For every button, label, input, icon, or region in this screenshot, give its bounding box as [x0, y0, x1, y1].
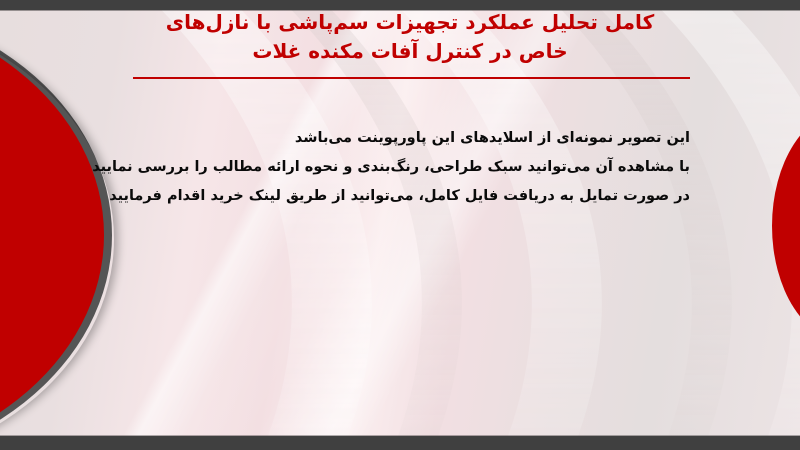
- slide-content-area: [0, 10, 800, 436]
- slide-plate: [0, 10, 800, 436]
- slide-title-line-1: کامل تحلیل عملکرد تجهیزات سم‌پاشی با ناز…: [120, 8, 700, 37]
- bottom-frame-bar: [0, 436, 800, 450]
- slide-title-line-2: خاص در کنترل آفات مکنده غلات: [120, 37, 700, 66]
- bottom-frame-edge: [0, 435, 800, 436]
- presentation-slide: کامل تحلیل عملکرد تجهیزات سم‌پاشی با ناز…: [0, 0, 800, 450]
- body-line-2: با مشاهده آن می‌توانید سبک طراحی، رنگ‌بن…: [130, 153, 690, 182]
- slide-title: کامل تحلیل عملکرد تجهیزات سم‌پاشی با ناز…: [120, 8, 700, 66]
- body-line-1: این تصویر نمونه‌ای از اسلایدهای این پاور…: [130, 124, 690, 153]
- body-line-3: در صورت تمایل به دریافت فایل کامل، می‌تو…: [130, 182, 690, 211]
- slide-body-text: این تصویر نمونه‌ای از اسلایدهای این پاور…: [130, 124, 690, 211]
- title-underline-rule: [133, 77, 690, 79]
- background-arc-pattern: [0, 10, 800, 436]
